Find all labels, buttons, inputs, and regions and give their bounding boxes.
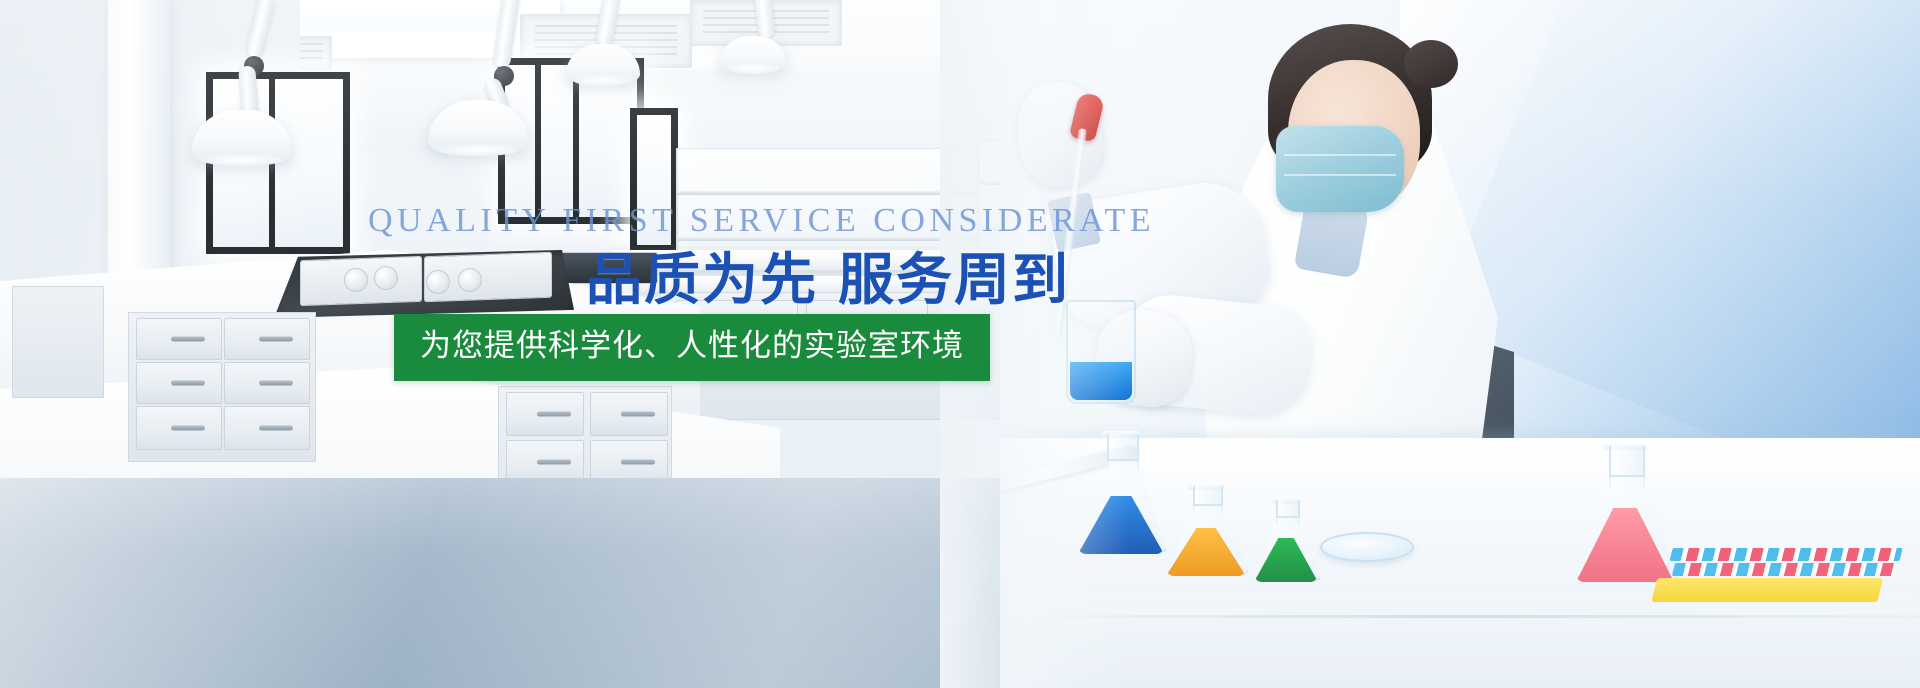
subtitle-banner: 为您提供科学化、人性化的实验室环境 (394, 314, 990, 381)
headline-part-2: 服务周到 (838, 248, 1070, 313)
eyebrow-tagline: QUALITY FIRST SERVICE CONSIDERATE (368, 204, 1155, 238)
headline-part-1: 品质为先 (586, 248, 818, 313)
hero-banner: QUALITY FIRST SERVICE CONSIDERATE 品质为先服务… (0, 0, 1920, 688)
text-overlay: QUALITY FIRST SERVICE CONSIDERATE 品质为先服务… (0, 0, 1920, 688)
subtitle-text: 为您提供科学化、人性化的实验室环境 (420, 327, 964, 366)
headline: 品质为先服务周到 (586, 250, 1070, 312)
